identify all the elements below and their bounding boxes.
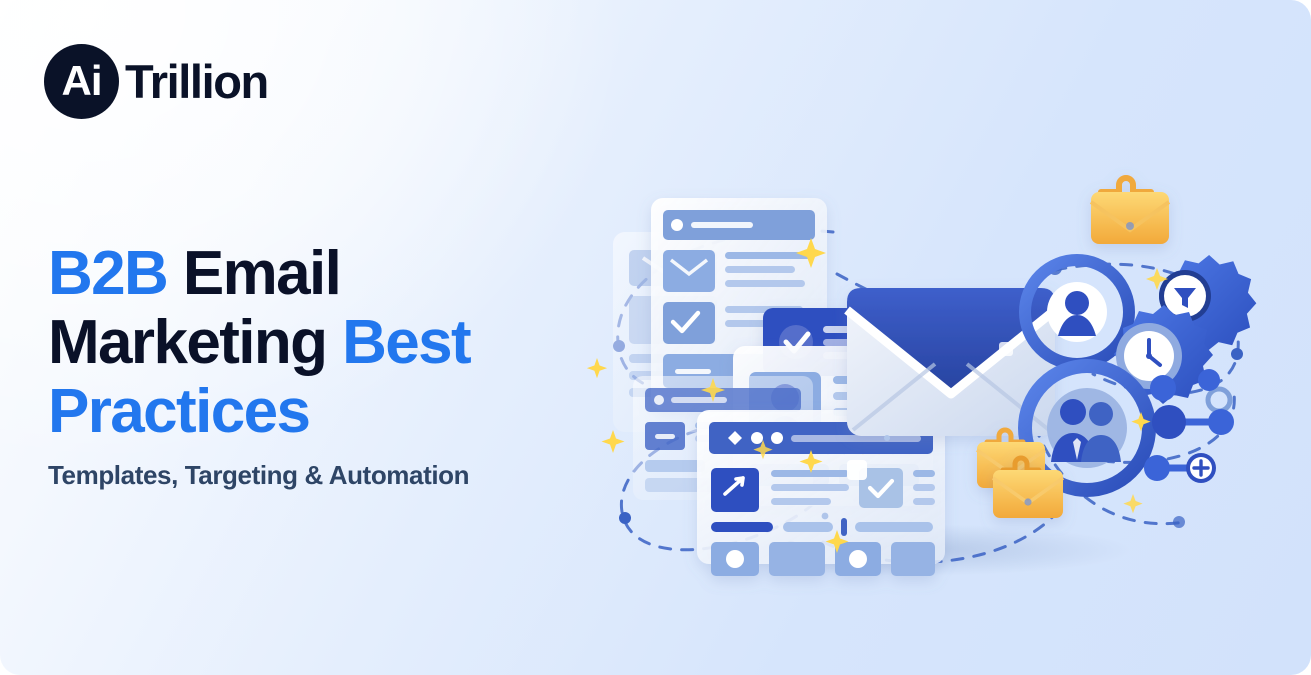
hero-copy: B2B Email Marketing Best Practices Templ… (48, 240, 568, 491)
logo-wordmark: Trillion (125, 58, 268, 105)
email-marketing-illustration (585, 150, 1265, 590)
ring-dot (1208, 389, 1230, 411)
clock-icon (1146, 353, 1152, 359)
headline-accent-b2b: B2B (48, 239, 167, 308)
headline-word-marketing: Marketing (48, 308, 326, 377)
headline-accent-practices: Practices (48, 377, 309, 446)
illustration-svg (585, 150, 1265, 590)
headline-line-2: Marketing Best (48, 309, 568, 378)
headline-accent-best: Best (326, 308, 470, 377)
add-node-icon (1186, 453, 1216, 483)
headline-word-email: Email (167, 239, 340, 308)
page-title: B2B Email Marketing Best Practices (48, 240, 568, 446)
logo-mark-text: Ai (62, 60, 102, 102)
window-dots-icon (728, 431, 783, 445)
page-subtitle: Templates, Targeting & Automation (48, 460, 568, 491)
briefcase-icon (1091, 178, 1169, 244)
brand-logo[interactable]: Ai Trillion (44, 44, 268, 119)
ai-logo-mark: Ai (44, 44, 119, 119)
headline-line-3: Practices (48, 378, 568, 447)
headline-line-1: B2B Email (48, 240, 568, 309)
hero-banner: Ai Trillion B2B Email Marketing Best Pra… (0, 0, 1311, 675)
